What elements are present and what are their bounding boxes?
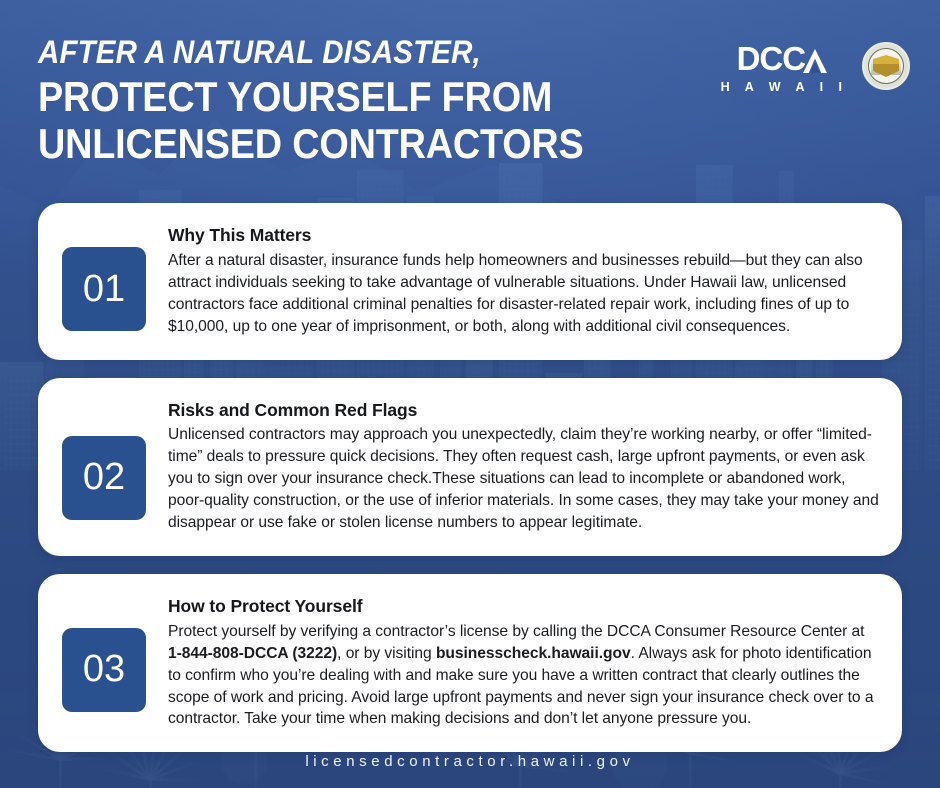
- brand-lockup: DCC H A W A I I: [717, 36, 910, 94]
- step-number-badge-2: 02: [62, 436, 146, 520]
- info-card-3: 03 How to Protect Yourself Protect yours…: [38, 574, 902, 752]
- headline-line-2: UNLICENSED CONTRACTORS: [38, 121, 584, 166]
- card-title-1: Why This Matters: [168, 225, 880, 247]
- card-text-3: Protect yourself by verifying a contract…: [168, 621, 880, 731]
- card-body-3: How to Protect Yourself Protect yourself…: [168, 596, 880, 730]
- card-text-2: Unlicensed contractors may approach you …: [168, 424, 880, 534]
- card-body-2: Risks and Common Red Flags Unlicensed co…: [168, 400, 880, 534]
- dcca-letters: DCC: [737, 42, 806, 75]
- step-number-badge-3: 03: [62, 628, 146, 712]
- dcca-phone-number: 1-844-808-DCCA (3222): [168, 645, 337, 662]
- card-title-2: Risks and Common Red Flags: [168, 400, 880, 422]
- dcca-subtitle: H A W A I I: [721, 80, 848, 94]
- card-body-1: Why This Matters After a natural disaste…: [168, 225, 880, 338]
- building: [925, 196, 940, 470]
- dcca-wordmark: DCC: [717, 42, 848, 75]
- headline-line-1: PROTECT YOURSELF FROM: [38, 74, 584, 119]
- card-title-3: How to Protect Yourself: [168, 596, 880, 618]
- card-text-1: After a natural disaster, insurance fund…: [168, 250, 880, 338]
- content-cards: 01 Why This Matters After a natural disa…: [38, 203, 902, 752]
- footer-url: licensedcontractor.hawaii.gov: [0, 753, 940, 770]
- state-of-hawaii-seal-icon: [862, 42, 910, 90]
- dcca-logo: DCC H A W A I I: [717, 42, 848, 94]
- card-text-3-part1: Protect yourself by verifying a contract…: [168, 623, 864, 640]
- info-card-1: 01 Why This Matters After a natural disa…: [38, 203, 902, 360]
- businesscheck-website: businesscheck.hawaii.gov: [436, 645, 631, 662]
- infographic-poster: AFTER A NATURAL DISASTER, PROTECT YOURSE…: [0, 0, 940, 788]
- headline-group: AFTER A NATURAL DISASTER, PROTECT YOURSE…: [38, 36, 644, 167]
- step-number-badge-1: 01: [62, 247, 146, 331]
- headline-kicker: AFTER A NATURAL DISASTER,: [38, 36, 596, 70]
- card-text-3-part2: , or by visiting: [337, 645, 436, 662]
- info-card-2: 02 Risks and Common Red Flags Unlicensed…: [38, 378, 902, 556]
- dcca-a-arrow-icon: [802, 46, 828, 72]
- poster-header: AFTER A NATURAL DISASTER, PROTECT YOURSE…: [38, 36, 910, 167]
